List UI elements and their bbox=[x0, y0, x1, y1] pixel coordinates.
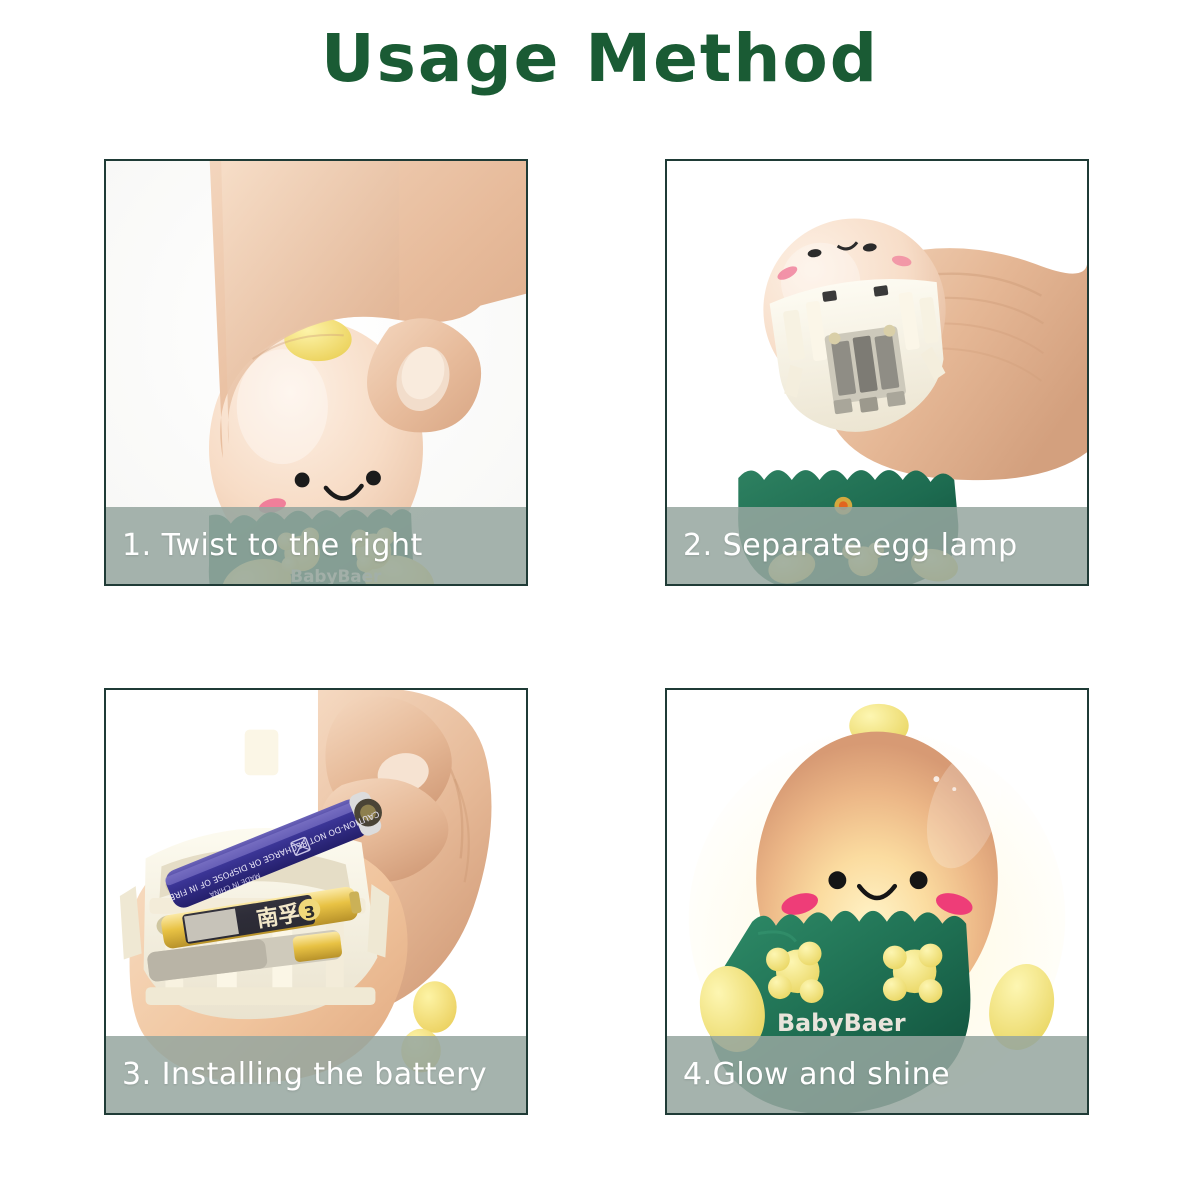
step-panel-2[interactable]: 2. Separate egg lamp bbox=[665, 159, 1089, 586]
infographic-page: Usage Method bbox=[0, 0, 1200, 1200]
caption-bar-1: 1. Twist to the right bbox=[106, 507, 526, 584]
caption-label-3: 3. Installing the battery bbox=[106, 1057, 487, 1092]
step-panel-3[interactable]: 南孚 3 bbox=[104, 688, 528, 1115]
eye-right bbox=[366, 471, 381, 486]
wing-right bbox=[413, 981, 457, 1033]
step-panel-1[interactable]: BabyBaer 1. Twist to the right bbox=[104, 159, 528, 586]
caption-bar-3: 3. Installing the battery bbox=[106, 1036, 526, 1113]
panel-grid: BabyBaer 1. Twist to the right bbox=[104, 159, 1096, 1115]
eye-left bbox=[828, 871, 846, 889]
step-panel-4[interactable]: BabyBaer 4.Glow and shine bbox=[665, 688, 1089, 1115]
eye-right bbox=[910, 871, 928, 889]
caption-bar-2: 2. Separate egg lamp bbox=[667, 507, 1087, 584]
brand-text: BabyBaer bbox=[777, 1009, 906, 1037]
eye-left bbox=[295, 473, 310, 488]
page-title: Usage Method bbox=[0, 26, 1200, 92]
caption-bar-4: 4.Glow and shine bbox=[667, 1036, 1087, 1113]
caption-label-1: 1. Twist to the right bbox=[106, 528, 423, 563]
caption-label-2: 2. Separate egg lamp bbox=[667, 528, 1018, 563]
caption-label-4: 4.Glow and shine bbox=[667, 1057, 950, 1092]
